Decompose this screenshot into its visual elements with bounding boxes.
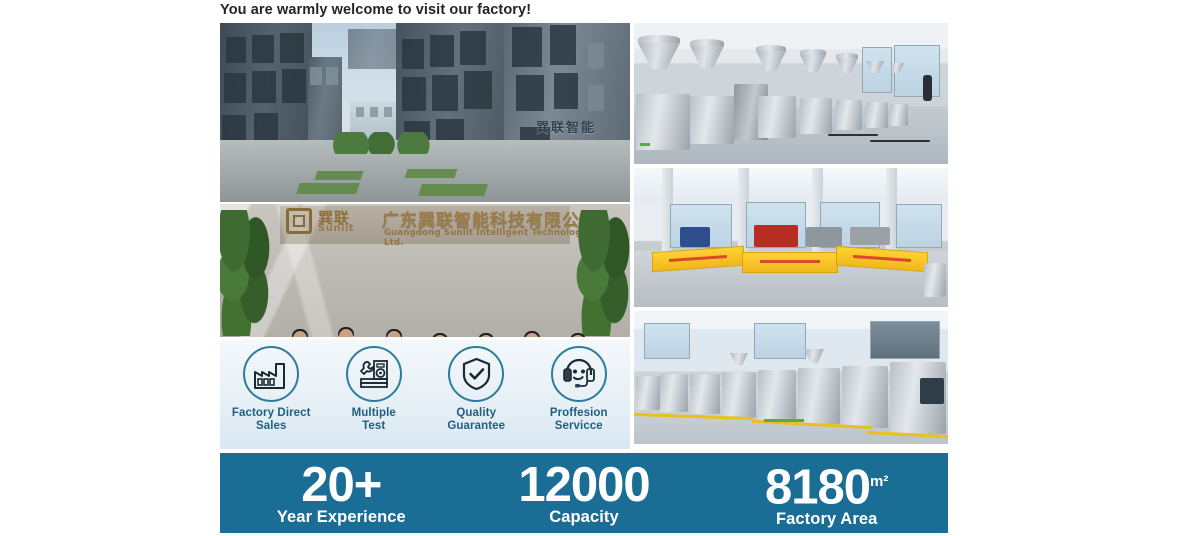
wall-signage-cn: 巽联智能: [536, 117, 596, 136]
feature-item-factory-direct-sales[interactable]: Factory Direct Sales: [220, 346, 323, 433]
feature-label: Factory Direct Sales: [232, 407, 311, 433]
stat-number: 20+: [220, 460, 463, 510]
photo-factory-building-exterior: 巽联智能: [220, 23, 630, 202]
stat-unit-superscript: m²: [870, 473, 888, 490]
company-logo-mark: [286, 208, 312, 234]
feature-label-line1: Factory Direct: [232, 407, 311, 419]
headset-support-icon-circle: [551, 346, 607, 402]
wrench-test-icon-circle: [346, 346, 402, 402]
feature-label-line2: Servicce: [555, 420, 603, 432]
shield-check-icon: [461, 357, 492, 391]
right-column: [634, 23, 948, 444]
feature-label-line2: Guarantee: [447, 420, 505, 432]
company-logo-en: Sunlit: [318, 223, 354, 234]
headset-support-icon: [562, 358, 596, 390]
feature-item-multiple-test[interactable]: Multiple Test: [323, 346, 426, 433]
stat-factory-area: 8180m² Factory Area: [705, 457, 948, 529]
factory-introduction-page: You are warmly welcome to visit our fact…: [0, 0, 1200, 536]
page-title: You are warmly welcome to visit our fact…: [220, 2, 531, 18]
stat-number-value: 8180: [765, 460, 870, 514]
feature-label-line2: Test: [362, 420, 385, 432]
feature-label: Multiple Test: [352, 407, 396, 433]
feature-label: Quality Guarantee: [447, 407, 505, 433]
stat-number: 12000: [463, 460, 706, 510]
photo-team-group: 巽联 Sunlit 广东巽联智能科技有限公司 Guangdong Sunlit …: [220, 204, 630, 337]
photo-filling-machines-warehouse: [634, 23, 948, 164]
wrench-test-icon: [358, 358, 390, 390]
stats-banner: 20+ Year Experience 12000 Capacity 8180m…: [220, 453, 948, 533]
photo-production-line-machines: [634, 311, 948, 444]
feature-highlights-strip: Factory Direct Sales: [220, 340, 630, 449]
stat-caption: Capacity: [463, 508, 706, 527]
stat-number: 8180m²: [705, 457, 948, 512]
factory-icon-circle: [243, 346, 299, 402]
feature-label-line1: Quality: [456, 407, 496, 419]
stat-capacity: 12000 Capacity: [463, 460, 706, 527]
feature-item-professional-service[interactable]: Proffesion Servicce: [528, 346, 631, 433]
stat-caption: Factory Area: [705, 510, 948, 529]
left-column: 巽联智能 巽联 Sunlit 广东巽联智能科技有限公司 Guangdong Su…: [220, 23, 630, 449]
shield-check-icon-circle: [448, 346, 504, 402]
feature-label-line1: Proffesion: [550, 407, 608, 419]
photo-workshop-yellow-barriers: [634, 168, 948, 307]
feature-item-quality-guarantee[interactable]: Quality Guarantee: [425, 346, 528, 433]
factory-icon: [254, 359, 288, 389]
feature-label-line1: Multiple: [352, 407, 396, 419]
stat-caption: Year Experience: [220, 508, 463, 527]
team-members-row: [220, 241, 630, 337]
feature-label: Proffesion Servicce: [550, 407, 608, 433]
feature-label-line2: Sales: [256, 420, 287, 432]
stat-year-experience: 20+ Year Experience: [220, 460, 463, 527]
content-area: 巽联智能 巽联 Sunlit 广东巽联智能科技有限公司 Guangdong Su…: [220, 23, 948, 531]
